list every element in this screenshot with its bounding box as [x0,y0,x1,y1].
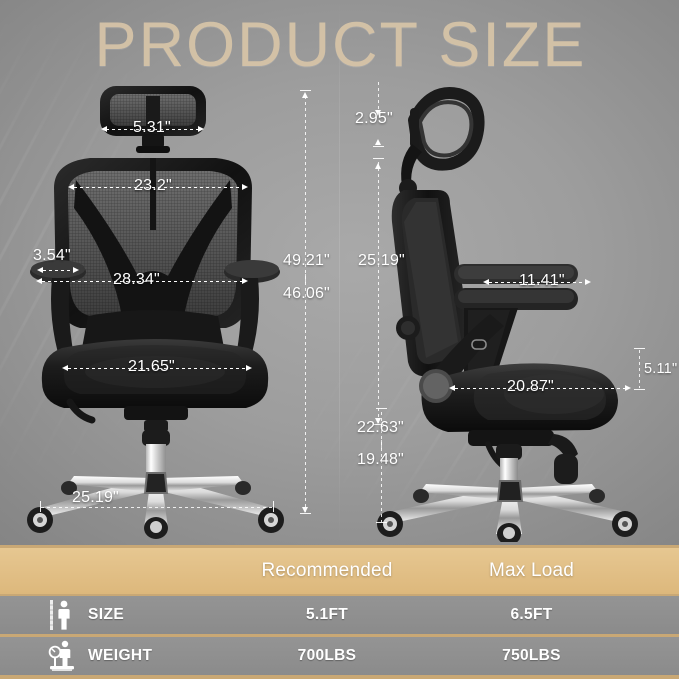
arrow-left-overall-width [36,278,42,284]
dim-label-backrest-height: 25.19" [358,252,405,270]
arrow-left-armrest-length [483,279,489,285]
cap-top-seat-thickness [634,348,645,349]
dim-label-base-diameter: 25.19" [72,489,119,507]
spec-table-header-row: Recommended Max Load [0,548,679,594]
arrow-right-seat-depth [625,385,631,391]
cap-top-seat-height [376,408,387,409]
dim-line-backrest-height [378,162,379,424]
spec-row-weight-label: WEIGHT [88,647,152,665]
cap-headrest-travel-mid [373,146,384,147]
dim-label-seat-width: 21.65" [128,358,175,376]
arrow-up-backrest-height [375,163,381,169]
dim-label-headrest-width: 5.31" [133,119,171,137]
cap-right-base-diameter [273,501,274,512]
arrow-up-headrest-travel [375,139,381,145]
front-view-chair [18,80,318,540]
dim-label-min-overall-height: 46.06" [283,285,330,303]
dim-label-seat-thickness: 5.11" [644,360,677,378]
spec-row-weight: WEIGHT 700LBS 750LBS [0,637,679,675]
cap-bottom-seat-thickness [634,389,645,390]
dim-line-overall-height [305,96,306,512]
arrow-right-backrest-upper-width [242,184,248,190]
person-scale-icon [48,639,78,673]
dim-label-separator-overall-height [305,274,306,283]
spec-row-size-label-cell: SIZE [0,598,230,632]
spec-header-recommended: Recommended [230,560,424,582]
dim-label-min-seat-height: 19.48" [357,451,404,469]
arrow-left-headrest-width [101,126,107,132]
arrow-right-armrest-length [585,279,591,285]
spec-size-max-load: 6.5FT [424,606,639,624]
dim-label-seat-depth: 20.87" [507,378,554,396]
spec-weight-max-load: 750LBS [424,647,639,665]
dim-line-base-diameter [41,507,273,508]
dim-label-headrest-travel: 2.95" [355,110,393,128]
dim-label-overall-width: 28.34" [113,271,160,289]
dim-line-armrest-pad-width [43,270,73,271]
spec-row-size: SIZE 5.1FT 6.5FT [0,596,679,634]
product-size-infographic: PRODUCT SIZE [0,0,679,679]
dim-label-armrest-length: 11.41" [519,272,565,290]
cap-bottom-seat-height [376,522,387,523]
mechanism-side [468,430,578,484]
page-title: PRODUCT SIZE [8,12,673,78]
cap-top-overall-height [300,90,311,91]
arrow-left-armrest-pad-width [37,267,43,273]
dim-label-armrest-pad-width: 3.54" [33,247,71,265]
arrow-right-headrest-width [198,126,204,132]
arrow-right-armrest-pad-width [73,267,79,273]
arrow-left-seat-depth [449,385,455,391]
spec-row-size-label: SIZE [88,606,124,624]
dim-label-max-seat-height: 22.63" [357,419,404,437]
spec-size-recommended: 5.1FT [230,606,424,624]
cap-headrest-travel-bottom [373,158,384,159]
spec-weight-recommended: 700LBS [230,647,424,665]
dim-label-backrest-upper-width: 23.2" [134,177,172,195]
dim-label-separator-seat-height [381,440,382,449]
arrow-left-backrest-upper-width [68,184,74,190]
dim-line-seat-thickness [639,350,640,388]
arrow-left-seat-width [62,365,68,371]
dim-line-headrest-travel-top [378,82,379,110]
spec-header-max-load: Max Load [424,560,639,582]
spec-row-weight-label-cell: WEIGHT [0,639,230,673]
side-view-chair [368,82,668,542]
headrest-side [399,93,479,197]
spec-table: Recommended Max Load [0,545,679,679]
dim-label-max-overall-height: 49.21" [283,252,330,270]
cap-bottom-overall-height [300,513,311,514]
person-ruler-icon [48,598,78,632]
arrow-right-overall-width [242,278,248,284]
arrow-right-seat-width [246,365,252,371]
view-divider [339,0,340,545]
